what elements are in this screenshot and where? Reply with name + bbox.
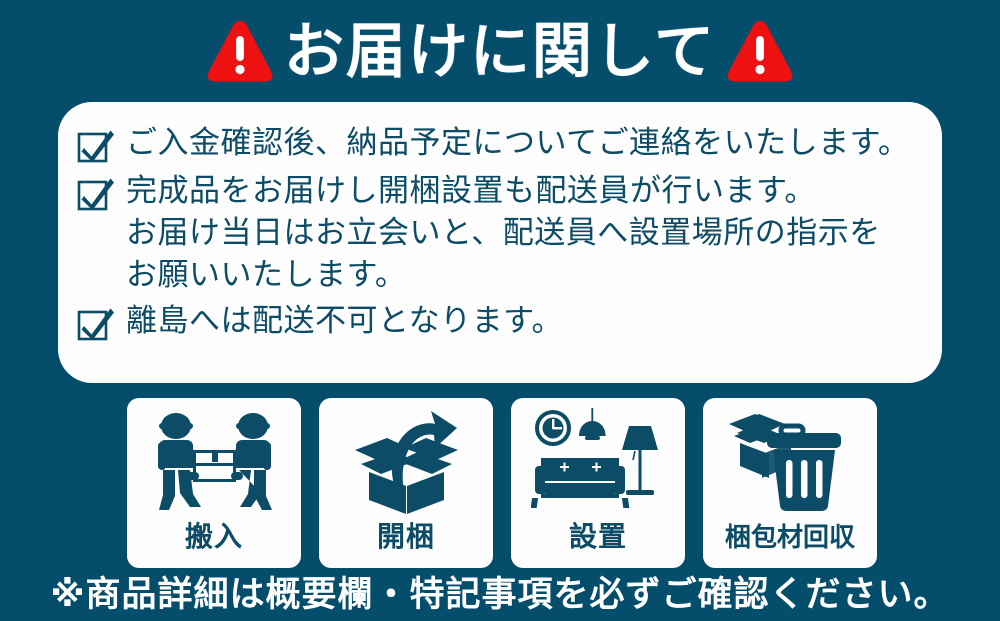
list-item: 離島へは配送不可となります。 <box>76 300 942 344</box>
two-movers-carrying-box-icon <box>147 406 282 518</box>
living-room-furniture-icon <box>531 406 666 518</box>
footer-note-text: ※商品詳細は概要欄・特記事項を必ずご確認ください。 <box>50 573 949 617</box>
list-item-line: お願いいたします。 <box>126 254 942 296</box>
list-item-line: ご入金確認後、納品予定についてご連絡をいたします。 <box>126 122 942 164</box>
service-icon-row: 搬入 開梱 <box>127 398 877 568</box>
list-item-line: お届け当日はお立会いと、配送員へ設置場所の指示を <box>126 212 942 254</box>
banner-header: お届けに関して <box>0 8 1000 96</box>
checked-checkbox-icon <box>76 174 116 214</box>
service-box-packing-material-collection: 梱包材回収 <box>703 398 877 568</box>
checked-checkbox-icon <box>76 304 116 344</box>
delivery-info-banner: お届けに関して ご入金確認後、納品予定についてご連絡をいたします。 <box>0 0 1000 621</box>
open-box-with-arrow-icon <box>339 406 474 518</box>
service-box-label: 設置 <box>569 520 627 554</box>
alert-triangle-icon <box>724 16 796 88</box>
checked-checkbox-icon <box>76 126 116 166</box>
list-item-line: 離島へは配送不可となります。 <box>126 300 942 342</box>
service-box-label: 梱包材回収 <box>725 520 855 554</box>
list-item: 完成品をお届けし開梱設置も配送員が行います。 お届け当日はお立会いと、配送員へ設… <box>76 170 942 296</box>
service-box-label: 搬入 <box>185 520 243 554</box>
box-and-trash-can-icon <box>723 406 858 518</box>
checklist: ご入金確認後、納品予定についてご連絡をいたします。 完成品をお届けし開梱設置も配… <box>58 116 942 344</box>
service-box-installation: 設置 <box>511 398 685 568</box>
footer-note: ※商品詳細は概要欄・特記事項を必ずご確認ください。 <box>0 572 1000 618</box>
list-item: ご入金確認後、納品予定についてご連絡をいたします。 <box>76 122 942 166</box>
notice-card: ご入金確認後、納品予定についてご連絡をいたします。 完成品をお届けし開梱設置も配… <box>58 102 942 383</box>
service-box-carry-in: 搬入 <box>127 398 301 568</box>
list-item-line: 完成品をお届けし開梱設置も配送員が行います。 <box>126 170 942 212</box>
page-title: お届けに関して <box>284 16 716 88</box>
service-box-unpacking: 開梱 <box>319 398 493 568</box>
service-box-label: 開梱 <box>377 520 435 554</box>
alert-triangle-icon <box>204 16 276 88</box>
